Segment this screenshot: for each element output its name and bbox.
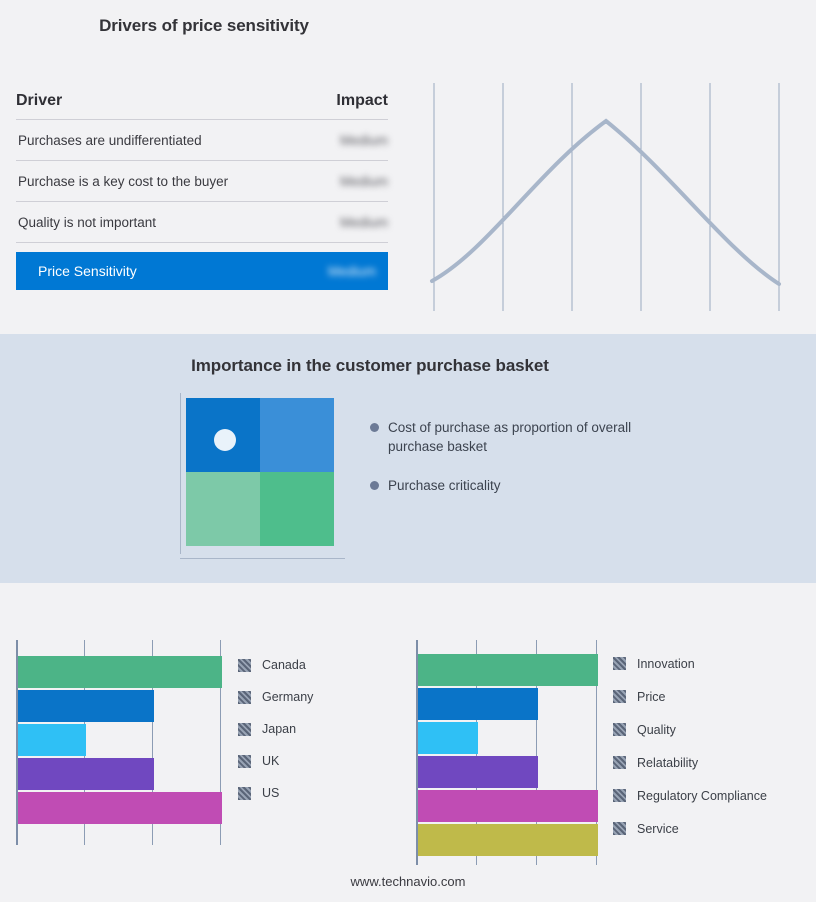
column-header-impact: Impact bbox=[302, 92, 388, 110]
drivers-panel: Drivers of price sensitivity Driver Impa… bbox=[0, 0, 408, 334]
impact-cell: Medium bbox=[302, 215, 388, 230]
legend-label: Relatability bbox=[637, 756, 698, 770]
matrix-y-axis bbox=[180, 393, 181, 554]
impact-cell: Medium bbox=[302, 133, 388, 148]
summary-label: Price Sensitivity bbox=[38, 263, 290, 279]
legend-label: Service bbox=[637, 822, 679, 836]
bar-quality bbox=[418, 722, 478, 754]
summary-impact: Medium bbox=[290, 264, 376, 279]
legend-item: Service bbox=[613, 812, 767, 845]
drivers-panel-title: Drivers of price sensitivity bbox=[0, 16, 408, 36]
bar-regulatory-compliance bbox=[418, 790, 598, 822]
column-header-driver: Driver bbox=[16, 92, 302, 110]
matrix-quadrant-bottom-right bbox=[260, 472, 334, 546]
legend-swatch-icon bbox=[613, 756, 626, 769]
driver-cell: Purchase is a key cost to the buyer bbox=[16, 174, 302, 189]
legend-item: Innovation bbox=[613, 647, 767, 680]
bar-germany bbox=[18, 690, 154, 722]
legend-swatch-icon bbox=[613, 822, 626, 835]
legend-label: Canada bbox=[262, 658, 306, 672]
matrix-quadrant-top-left bbox=[186, 398, 260, 472]
importance-panel-title: Importance in the customer purchase bask… bbox=[0, 356, 740, 376]
legend-swatch-icon bbox=[238, 691, 251, 704]
legend-label: Purchase criticality bbox=[388, 476, 501, 495]
legend-swatch-icon bbox=[613, 690, 626, 703]
key-purchase-criteria-panel: Key purchase criteria Innovation Price bbox=[408, 583, 816, 902]
adoption-rates-legend: Canada Germany Japan UK US bbox=[238, 649, 313, 809]
legend-label: Regulatory Compliance bbox=[637, 789, 767, 803]
bar-innovation bbox=[418, 654, 598, 686]
legend-label: Price bbox=[637, 690, 665, 704]
legend-swatch-icon bbox=[613, 657, 626, 670]
impact-cell: Medium bbox=[302, 174, 388, 189]
legend-item: Purchase criticality bbox=[370, 476, 660, 495]
lifecycle-curve-chart bbox=[408, 0, 816, 334]
bar-service bbox=[418, 824, 598, 856]
bar-price bbox=[418, 688, 538, 720]
table-header-row: Driver Impact bbox=[16, 92, 388, 120]
legend-item: Germany bbox=[238, 681, 313, 713]
drivers-table: Driver Impact Purchases are undifferenti… bbox=[16, 92, 388, 290]
adoption-rates-chart bbox=[16, 640, 226, 845]
legend-item: Price bbox=[613, 680, 767, 713]
legend-label: Germany bbox=[262, 690, 313, 704]
legend-item: Japan bbox=[238, 713, 313, 745]
legend-swatch-icon bbox=[613, 789, 626, 802]
matrix-quadrant-grid bbox=[186, 398, 334, 546]
table-row: Purchase is a key cost to the buyer Medi… bbox=[16, 161, 388, 202]
bullet-icon bbox=[370, 423, 379, 432]
key-criteria-chart bbox=[416, 640, 602, 865]
legend-label: Japan bbox=[262, 722, 296, 736]
driver-cell: Purchases are undifferentiated bbox=[16, 133, 302, 148]
matrix-x-axis bbox=[180, 558, 345, 559]
legend-item: Relatability bbox=[613, 746, 767, 779]
legend-swatch-icon bbox=[238, 787, 251, 800]
adoption-lifecycle-panel: Adoption lifecycle Innovators Early Adop… bbox=[408, 0, 816, 334]
key-criteria-legend: Innovation Price Quality Relatability Re… bbox=[613, 647, 767, 845]
footer-url: www.technavio.com bbox=[0, 874, 816, 889]
matrix-position-marker bbox=[214, 429, 236, 451]
legend-swatch-icon bbox=[238, 659, 251, 672]
legend-item: Cost of purchase as proportion of overal… bbox=[370, 418, 660, 456]
infographic-page: Drivers of price sensitivity Driver Impa… bbox=[0, 0, 816, 902]
matrix-quadrant-top-right bbox=[260, 398, 334, 472]
legend-swatch-icon bbox=[238, 755, 251, 768]
legend-item: Quality bbox=[613, 713, 767, 746]
adoption-rates-panel: Adoption rates Canada Germany Jap bbox=[0, 583, 408, 902]
driver-cell: Quality is not important bbox=[16, 215, 302, 230]
legend-item: Regulatory Compliance bbox=[613, 779, 767, 812]
legend-label: Innovation bbox=[637, 657, 695, 671]
legend-swatch-icon bbox=[613, 723, 626, 736]
legend-swatch-icon bbox=[238, 723, 251, 736]
price-sensitivity-summary-row: Price Sensitivity Medium bbox=[16, 252, 388, 290]
bar-canada bbox=[18, 656, 222, 688]
matrix-quadrant-bottom-left bbox=[186, 472, 260, 546]
bar-japan bbox=[18, 724, 86, 756]
bar-uk bbox=[18, 758, 154, 790]
bar-us bbox=[18, 792, 222, 824]
legend-label: UK bbox=[262, 754, 279, 768]
bullet-icon bbox=[370, 481, 379, 490]
legend-label: Quality bbox=[637, 723, 676, 737]
purchase-basket-matrix bbox=[180, 398, 340, 563]
legend-item: US bbox=[238, 777, 313, 809]
legend-item: UK bbox=[238, 745, 313, 777]
bar-relatability bbox=[418, 756, 538, 788]
legend-item: Canada bbox=[238, 649, 313, 681]
table-row: Purchases are undifferentiated Medium bbox=[16, 120, 388, 161]
table-row: Quality is not important Medium bbox=[16, 202, 388, 243]
legend-label: US bbox=[262, 786, 279, 800]
matrix-legend: Cost of purchase as proportion of overal… bbox=[370, 418, 660, 515]
legend-label: Cost of purchase as proportion of overal… bbox=[388, 418, 660, 456]
